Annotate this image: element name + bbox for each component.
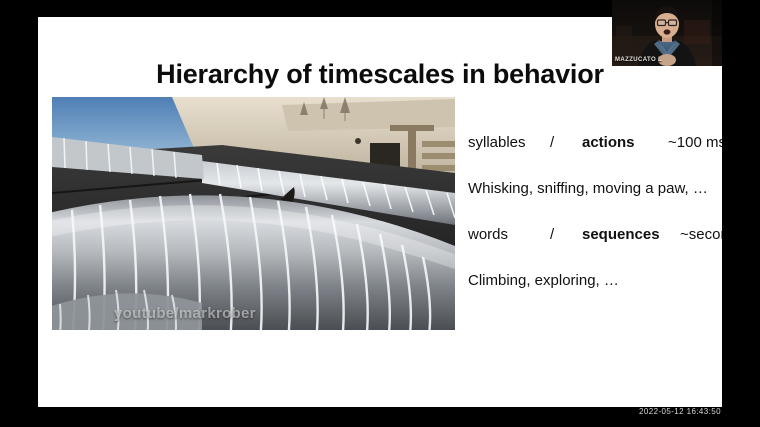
content-subline-actions: Whisking, sniffing, moving a paw, …	[468, 181, 718, 196]
row-actions-left-label: syllables	[468, 135, 550, 150]
slide-photo: youtube/markrober	[52, 97, 455, 330]
row-actions-separator: /	[550, 135, 582, 150]
row-sequences-left-label: words	[468, 227, 550, 242]
content-row-sequences: words / sequences ~seconds	[468, 227, 718, 242]
webcam-speaker-name: MAZZUCATO L	[615, 57, 662, 63]
presentation-slide: Hierarchy of timescales in behavior	[38, 17, 722, 407]
row-sequences-separator: /	[550, 227, 582, 242]
video-player-stage: Hierarchy of timescales in behavior	[0, 0, 760, 427]
row-actions-timescale: ~100 ms	[668, 135, 722, 150]
content-row-actions: syllables / actions ~100 ms	[468, 135, 718, 150]
spacer-1	[468, 150, 718, 181]
row-actions-bold-label: actions	[582, 135, 668, 150]
webcam-overlay[interactable]: MAZZUCATO L	[612, 0, 722, 66]
row-sequences-timescale: ~seconds	[680, 227, 722, 242]
slide-text-column: syllables / actions ~100 ms Whisking, sn…	[468, 135, 718, 288]
spacer-3	[468, 242, 718, 273]
row-sequences-bold-label: sequences	[582, 227, 680, 242]
player-timestamp: 2022-05-12 16:43:50	[630, 407, 730, 416]
spacer-2	[468, 196, 718, 227]
photo-illustration	[52, 97, 455, 330]
photo-watermark: youtube/markrober	[114, 305, 256, 322]
content-subline-sequences: Climbing, exploring, …	[468, 273, 718, 288]
